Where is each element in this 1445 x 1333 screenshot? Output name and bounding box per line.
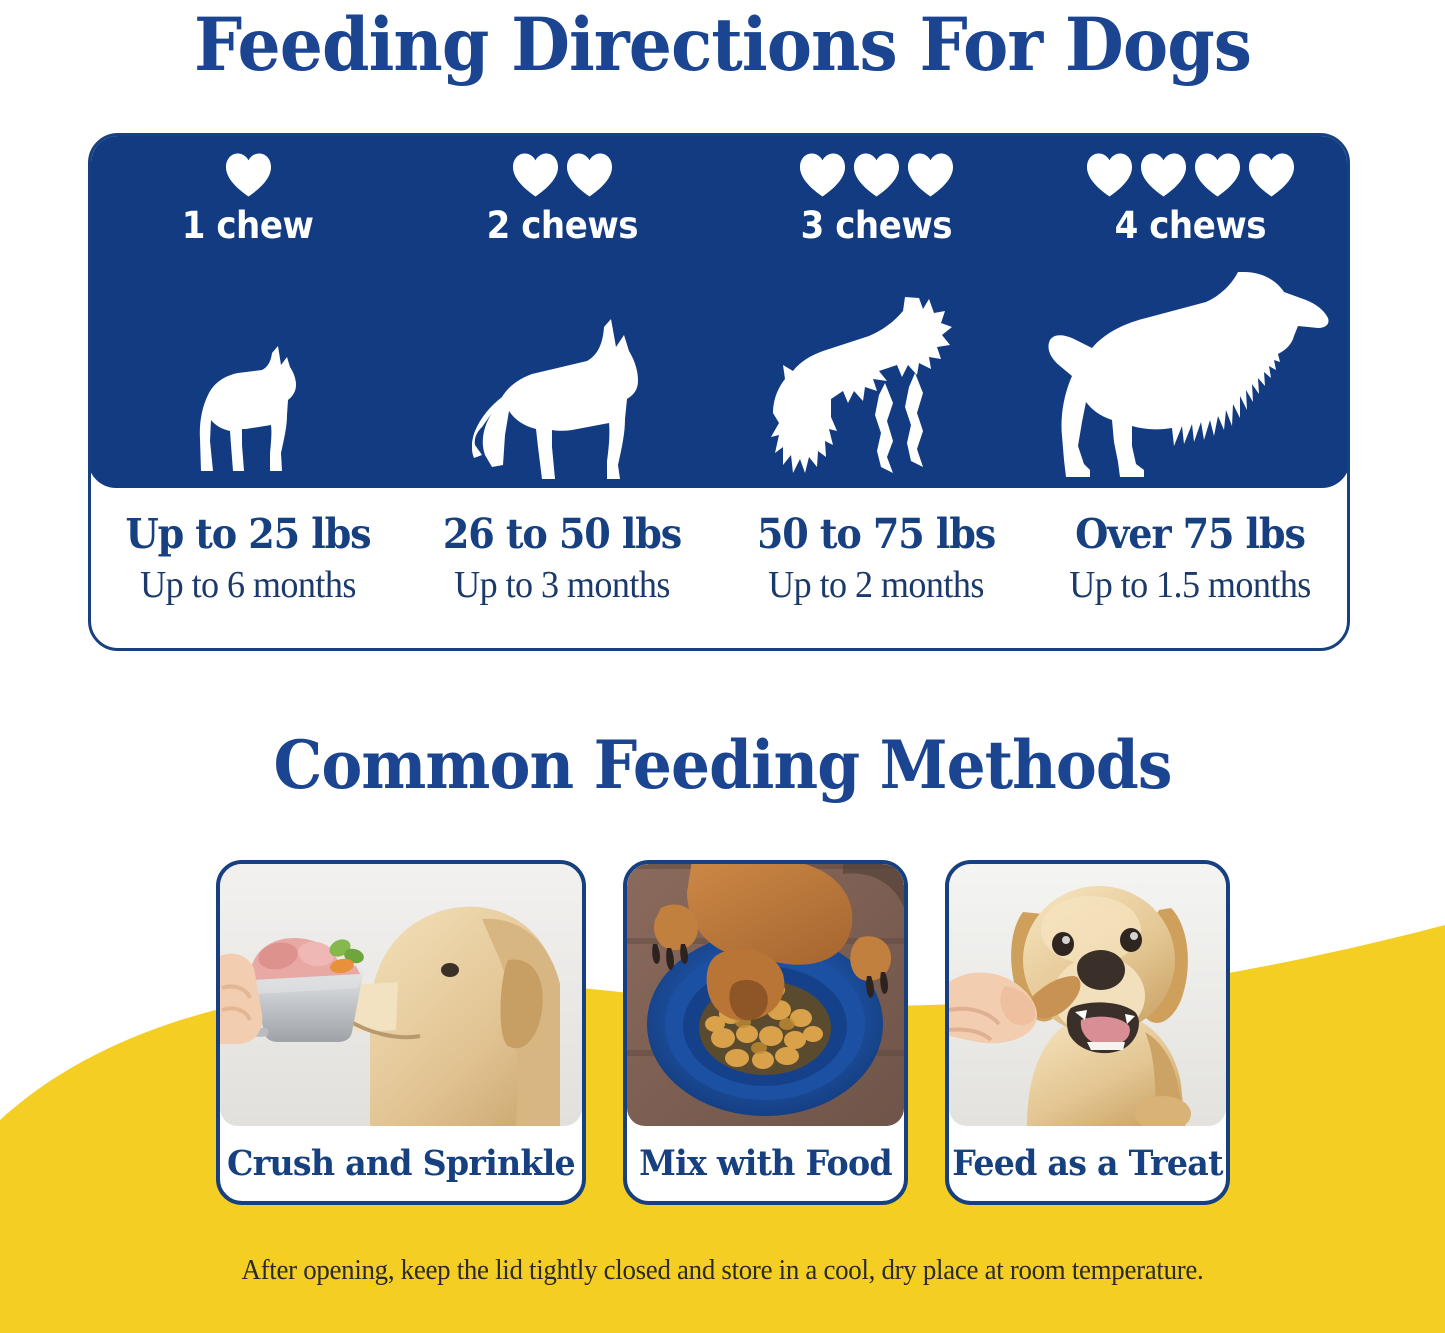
method-caption-crush-and-sprinkle: Crush and Sprinkle xyxy=(229,1126,573,1201)
heart-icon xyxy=(512,152,559,198)
feeding-chart-icon-columns: 1 chew 2 chews xyxy=(91,136,1347,485)
chew-hearts-group-4 xyxy=(1086,152,1295,200)
schnauzer-silhouette-icon xyxy=(769,295,984,485)
boston-terrier-silhouette-icon xyxy=(186,335,311,485)
weight-column-3: 50 to 75 lbs Up to 2 months xyxy=(719,488,1033,648)
method-card-feed-as-a-treat[interactable]: Feed as a Treat xyxy=(945,860,1230,1205)
feeding-chart-card: 1 chew 2 chews xyxy=(88,133,1350,651)
dog-silhouette-wrap-1 xyxy=(91,335,405,485)
weight-column-2: 26 to 50 lbs Up to 3 months xyxy=(405,488,719,648)
photo-feed-as-a-treat xyxy=(949,864,1226,1126)
weight-column-4: Over 75 lbs Up to 1.5 months xyxy=(1033,488,1347,648)
feeding-column-2: 2 chews xyxy=(405,136,719,485)
chew-label-1: 1 chew xyxy=(182,204,314,247)
feeding-column-1: 1 chew xyxy=(91,136,405,485)
methods-section-title: Common Feeding Methods xyxy=(51,726,1395,804)
photo-crush-and-sprinkle xyxy=(220,864,582,1126)
weight-label-3: 50 to 75 lbs xyxy=(730,510,1022,558)
duration-label-2: Up to 3 months xyxy=(413,563,711,607)
method-card-crush-and-sprinkle[interactable]: Crush and Sprinkle xyxy=(216,860,586,1205)
bull-terrier-silhouette-icon xyxy=(472,315,652,485)
heart-icon xyxy=(566,152,613,198)
photo-mix-with-food xyxy=(627,864,904,1126)
method-caption-feed-as-a-treat: Feed as a Treat xyxy=(955,1126,1218,1201)
heart-icon xyxy=(1248,152,1295,198)
duration-label-1: Up to 6 months xyxy=(99,563,397,607)
heart-icon xyxy=(1086,152,1133,198)
dog-silhouette-wrap-2 xyxy=(405,315,719,485)
dog-silhouette-wrap-4 xyxy=(1033,270,1347,485)
heart-icon xyxy=(907,152,954,198)
dog-silhouette-wrap-3 xyxy=(719,295,1033,485)
chew-label-4: 4 chews xyxy=(1114,204,1266,247)
page-title: Feeding Directions For Dogs xyxy=(51,2,1395,88)
weight-label-1: Up to 25 lbs xyxy=(102,510,394,558)
heart-icon xyxy=(1194,152,1241,198)
golden-retriever-silhouette-icon xyxy=(1048,270,1333,485)
weight-label-2: 26 to 50 lbs xyxy=(416,510,708,558)
feeding-methods-card-row: Crush and Sprinkle xyxy=(0,860,1445,1205)
weight-label-4: Over 75 lbs xyxy=(1044,510,1336,558)
heart-icon xyxy=(799,152,846,198)
storage-instructions-note: After opening, keep the lid tightly clos… xyxy=(29,1255,1416,1287)
chew-hearts-group-2 xyxy=(512,152,613,200)
heart-icon xyxy=(1140,152,1187,198)
duration-label-3: Up to 2 months xyxy=(727,563,1025,607)
chew-hearts-group-3 xyxy=(799,152,954,200)
feeding-column-3: 3 chews xyxy=(719,136,1033,485)
weight-column-1: Up to 25 lbs Up to 6 months xyxy=(91,488,405,648)
method-caption-mix-with-food: Mix with Food xyxy=(633,1126,896,1201)
chew-label-3: 3 chews xyxy=(800,204,952,247)
duration-label-4: Up to 1.5 months xyxy=(1041,563,1339,607)
chew-hearts-group-1 xyxy=(225,152,272,200)
heart-icon xyxy=(853,152,900,198)
chew-label-2: 2 chews xyxy=(486,204,638,247)
feeding-chart-weight-row: Up to 25 lbs Up to 6 months 26 to 50 lbs… xyxy=(91,488,1347,648)
heart-icon xyxy=(225,152,272,198)
feeding-column-4: 4 chews xyxy=(1033,136,1347,485)
method-card-mix-with-food[interactable]: Mix with Food xyxy=(623,860,908,1205)
